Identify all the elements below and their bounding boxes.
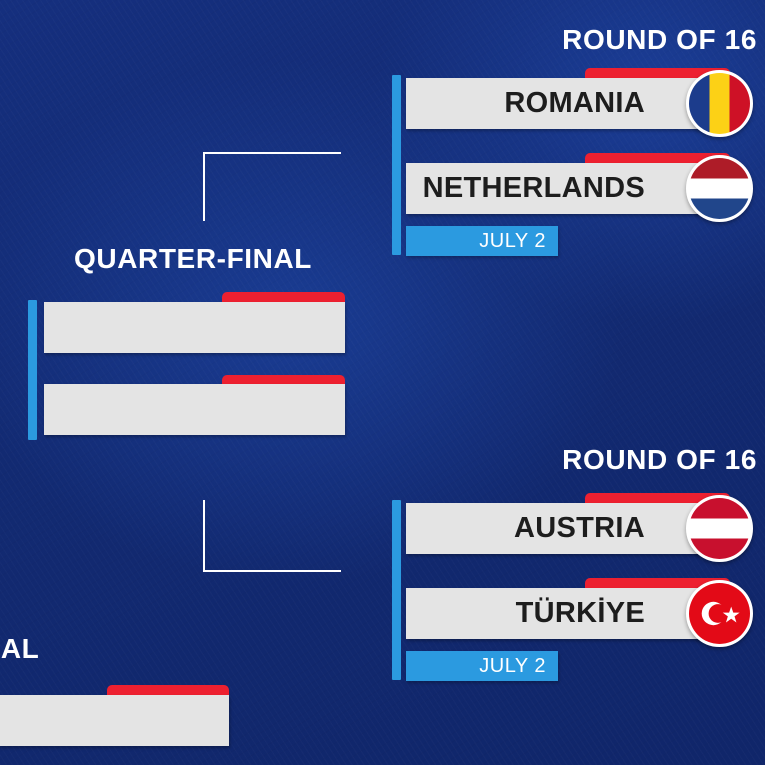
round-of-16-bottom-heading: ROUND OF 16 <box>357 444 757 476</box>
match-date-label: JULY 2 <box>479 655 558 678</box>
semi-final-heading: -FINAL <box>0 633 39 665</box>
quarter-final-heading: QUARTER-FINAL <box>74 243 312 275</box>
match-date-label: JULY 2 <box>479 230 558 253</box>
team-name-label: TÜRKİYE <box>516 597 709 630</box>
team-row-netherlands[interactable]: NETHERLANDS <box>406 163 709 214</box>
bracket-connector-top-horizontal <box>203 152 341 154</box>
team-row-quarter-final-slot-2[interactable] <box>44 384 345 435</box>
team-name-label: NETHERLANDS <box>423 172 709 205</box>
turkiye-flag-icon <box>686 580 753 647</box>
team-row-quarter-final-slot-1[interactable] <box>44 302 345 353</box>
team-row-romania[interactable]: ROMANIA <box>406 78 709 129</box>
bracket-canvas: ROUND OF 16 ROMANIA NETHERLANDS JULY 2 Q… <box>0 0 765 765</box>
romania-flag-icon <box>686 70 753 137</box>
match-date-bar-bottom: JULY 2 <box>406 651 558 681</box>
crescent-star-glyph <box>689 583 750 644</box>
austria-flag-icon <box>686 495 753 562</box>
team-name-label: ROMANIA <box>504 87 709 120</box>
team-row-semi-final-slot-1[interactable] <box>0 695 229 746</box>
round-of-16-top-heading: ROUND OF 16 <box>357 24 757 56</box>
bracket-connector-bottom-horizontal <box>203 570 341 572</box>
match-left-accent-bar <box>392 75 401 255</box>
team-name-label: AUSTRIA <box>514 512 709 545</box>
match-left-accent-bar <box>28 300 37 440</box>
match-date-bar-top: JULY 2 <box>406 226 558 256</box>
bracket-connector-top-vertical <box>203 152 205 221</box>
bracket-connector-bottom-vertical <box>203 500 205 572</box>
match-left-accent-bar <box>392 500 401 680</box>
team-row-austria[interactable]: AUSTRIA <box>406 503 709 554</box>
team-row-turkiye[interactable]: TÜRKİYE <box>406 588 709 639</box>
netherlands-flag-icon <box>686 155 753 222</box>
